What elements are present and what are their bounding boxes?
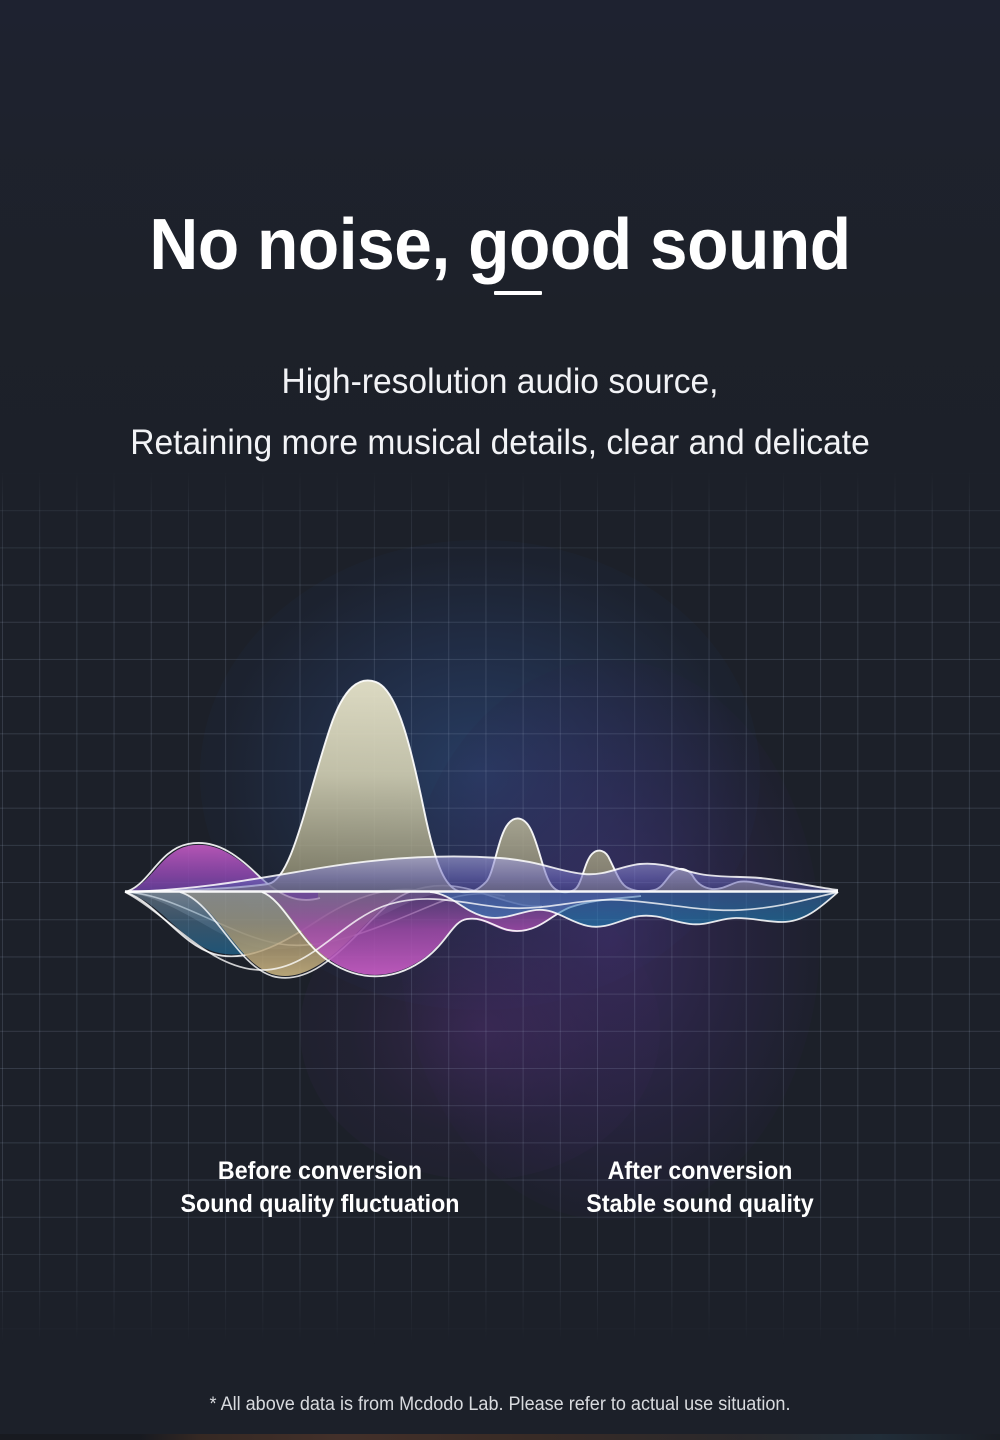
caption-before-subtitle: Sound quality fluctuation	[134, 1187, 506, 1221]
page-subtitle: High-resolution audio source, Retaining …	[20, 351, 980, 473]
waveform-svg	[0, 470, 1000, 1170]
waveform-chart	[0, 470, 1000, 1170]
promo-page: No noise, good sound High-resolution aud…	[0, 0, 1000, 1440]
caption-after-title: After conversion	[533, 1155, 868, 1187]
caption-after-subtitle: Stable sound quality	[533, 1187, 868, 1221]
caption-after-conversion: After conversion Stable sound quality	[533, 1155, 868, 1221]
subtitle-line-2: Retaining more musical details, clear an…	[20, 412, 980, 473]
title-divider	[494, 291, 542, 295]
caption-before-conversion: Before conversion Sound quality fluctuat…	[134, 1155, 506, 1221]
footnote-disclaimer: * All above data is from Mcdodo Lab. Ple…	[25, 1394, 975, 1416]
page-title: No noise, good sound	[30, 209, 970, 281]
next-section-sliver	[0, 1434, 1000, 1440]
caption-before-title: Before conversion	[134, 1155, 506, 1187]
subtitle-line-1: High-resolution audio source,	[20, 351, 980, 412]
